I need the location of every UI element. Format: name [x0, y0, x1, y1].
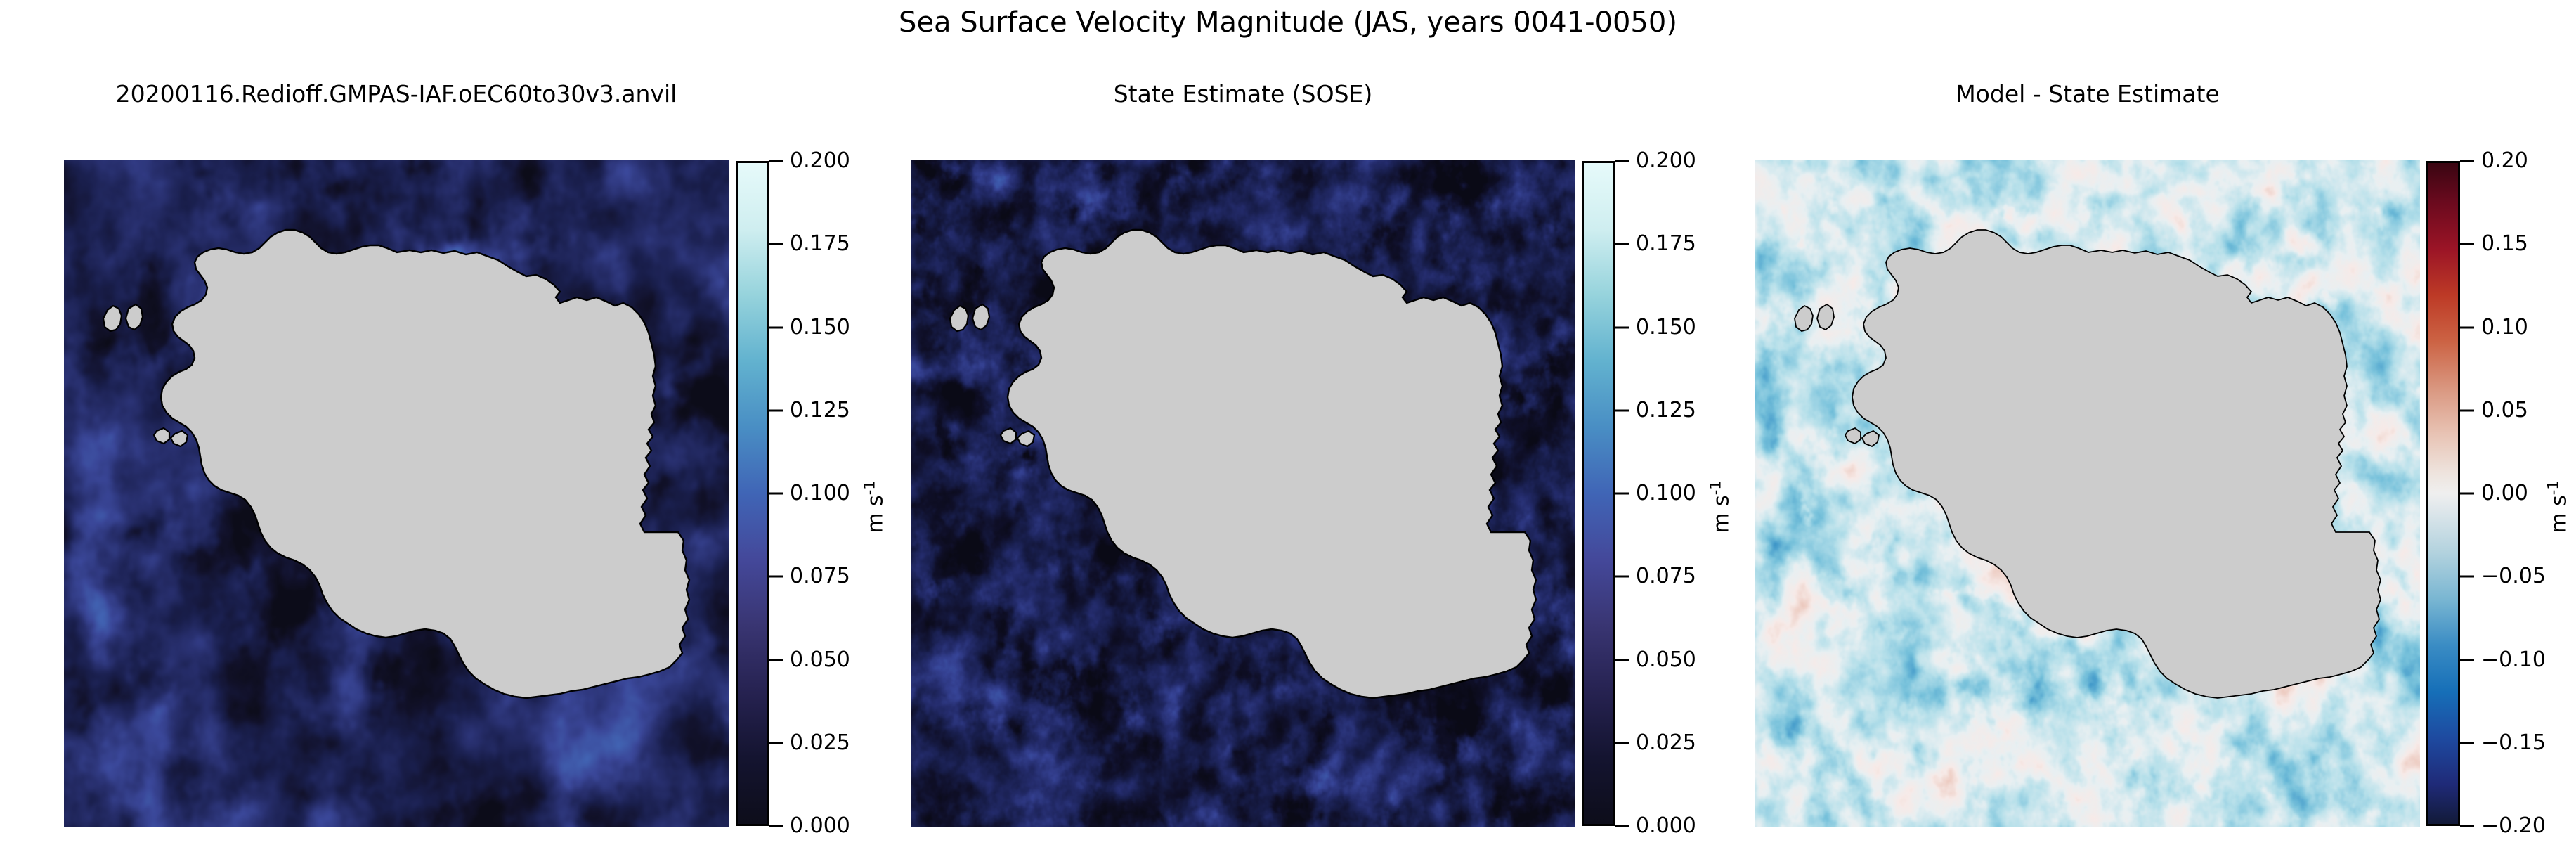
- colorbar-difference-tick-8: [2460, 160, 2474, 162]
- colorbar-sose-unit-exponent: -1: [1707, 480, 1724, 495]
- colorbar-difference-label-1: −0.15: [2481, 732, 2546, 754]
- colorbar-sose-label-1: 0.025: [1636, 732, 1696, 754]
- colorbar-difference-label-2: −0.10: [2481, 650, 2546, 671]
- colorbar-sose-label-4: 0.100: [1636, 483, 1696, 504]
- colorbar-model-unit: m s-1: [861, 480, 888, 533]
- colorbar-difference-bar: [2426, 161, 2460, 826]
- colorbar-sose-label-5: 0.125: [1636, 400, 1696, 421]
- colorbar-model-label-3: 0.075: [790, 566, 850, 587]
- colorbar-difference-label-5: 0.05: [2481, 400, 2528, 421]
- colorbar-difference-label-8: 0.20: [2481, 150, 2528, 172]
- colorbar-difference-tick-3: [2460, 576, 2474, 578]
- colorbar-sose-unit-text: m s: [1710, 495, 1734, 533]
- colorbar-model-tick-2: [769, 659, 783, 661]
- colorbar-model-tick-3: [769, 576, 783, 578]
- colorbar-sose-tick-4: [1615, 493, 1629, 495]
- colorbar-model-label-6: 0.150: [790, 317, 850, 338]
- colorbar-sose-tick-6: [1615, 326, 1629, 328]
- colorbar-sose-label-7: 0.175: [1636, 233, 1696, 254]
- colorbar-model-label-8: 0.200: [790, 150, 850, 172]
- colorbar-sose-label-2: 0.050: [1636, 650, 1696, 671]
- colorbar-difference-unit-exponent: -1: [2545, 480, 2562, 495]
- colorbar-difference-label-4: 0.00: [2481, 483, 2528, 504]
- colorbar-model[interactable]: 0.000 0.025 0.050 0.075 0.100 0.125 0.15…: [736, 161, 769, 826]
- panel-title-difference: Model - State Estimate: [1755, 77, 2420, 111]
- colorbar-sose[interactable]: 0.000 0.025 0.050 0.075 0.100 0.125 0.15…: [1582, 161, 1615, 826]
- colorbar-sose-label-8: 0.200: [1636, 150, 1696, 172]
- colorbar-model-unit-text: m s: [864, 495, 888, 533]
- colorbar-difference-label-6: 0.10: [2481, 317, 2528, 338]
- colorbar-difference-label-0: −0.20: [2481, 815, 2546, 837]
- colorbar-difference-gradient: [2428, 163, 2458, 824]
- colorbar-difference-label-7: 0.15: [2481, 233, 2528, 254]
- colorbar-model-label-1: 0.025: [790, 732, 850, 754]
- colorbar-difference-tick-0: [2460, 825, 2474, 827]
- colorbar-sose-tick-1: [1615, 742, 1629, 744]
- colorbar-difference-unit-text: m s: [2547, 495, 2572, 533]
- figure-root: Sea Surface Velocity Magnitude (JAS, yea…: [0, 0, 2576, 852]
- colorbar-model-tick-4: [769, 493, 783, 495]
- colorbar-model-label-5: 0.125: [790, 400, 850, 421]
- colorbar-model-tick-5: [769, 409, 783, 411]
- colorbar-sose-tick-0: [1615, 825, 1629, 827]
- colorbar-model-bar: [736, 161, 769, 826]
- colorbar-sose-tick-2: [1615, 659, 1629, 661]
- panel-title-sose: State Estimate (SOSE): [911, 77, 1575, 111]
- colorbar-difference-unit: m s-1: [2545, 480, 2572, 533]
- colorbar-model-tick-6: [769, 326, 783, 328]
- colorbar-model-label-2: 0.050: [790, 650, 850, 671]
- colorbar-sose-label-0: 0.000: [1636, 815, 1696, 837]
- colorbar-model-unit-exponent: -1: [861, 480, 878, 495]
- colorbar-sose-tick-7: [1615, 243, 1629, 245]
- colorbar-difference-tick-5: [2460, 409, 2474, 411]
- colorbar-model-gradient: [738, 163, 767, 824]
- colorbar-difference-tick-2: [2460, 659, 2474, 661]
- colorbar-model-tick-8: [769, 160, 783, 162]
- colorbar-difference-tick-4: [2460, 493, 2474, 495]
- colorbar-difference-label-3: −0.05: [2481, 566, 2546, 587]
- colorbar-sose-label-3: 0.075: [1636, 566, 1696, 587]
- colorbar-model-label-4: 0.100: [790, 483, 850, 504]
- colorbar-difference[interactable]: −0.20 −0.15 −0.10 −0.05 0.00 0.05 0.10 0…: [2426, 161, 2460, 826]
- colorbar-model-tick-0: [769, 825, 783, 827]
- panel-title-model: 20200116.Redioff.GMPAS-IAF.oEC60to30v3.a…: [64, 77, 729, 111]
- colorbar-sose-tick-3: [1615, 576, 1629, 578]
- colorbar-model-label-7: 0.175: [790, 233, 850, 254]
- map-panel-sose[interactable]: [911, 160, 1575, 827]
- figure-suptitle: Sea Surface Velocity Magnitude (JAS, yea…: [0, 6, 2576, 39]
- colorbar-sose-tick-5: [1615, 409, 1629, 411]
- colorbar-sose-gradient: [1584, 163, 1613, 824]
- map-panel-model[interactable]: [64, 160, 729, 827]
- colorbar-sose-label-6: 0.150: [1636, 317, 1696, 338]
- map-panel-difference[interactable]: [1755, 160, 2420, 827]
- colorbar-sose-unit: m s-1: [1707, 480, 1734, 533]
- colorbar-model-tick-1: [769, 742, 783, 744]
- colorbar-sose-tick-8: [1615, 160, 1629, 162]
- colorbar-difference-tick-6: [2460, 326, 2474, 328]
- colorbar-model-tick-7: [769, 243, 783, 245]
- colorbar-model-label-0: 0.000: [790, 815, 850, 837]
- colorbar-difference-tick-7: [2460, 243, 2474, 245]
- colorbar-difference-tick-1: [2460, 742, 2474, 744]
- colorbar-sose-bar: [1582, 161, 1615, 826]
